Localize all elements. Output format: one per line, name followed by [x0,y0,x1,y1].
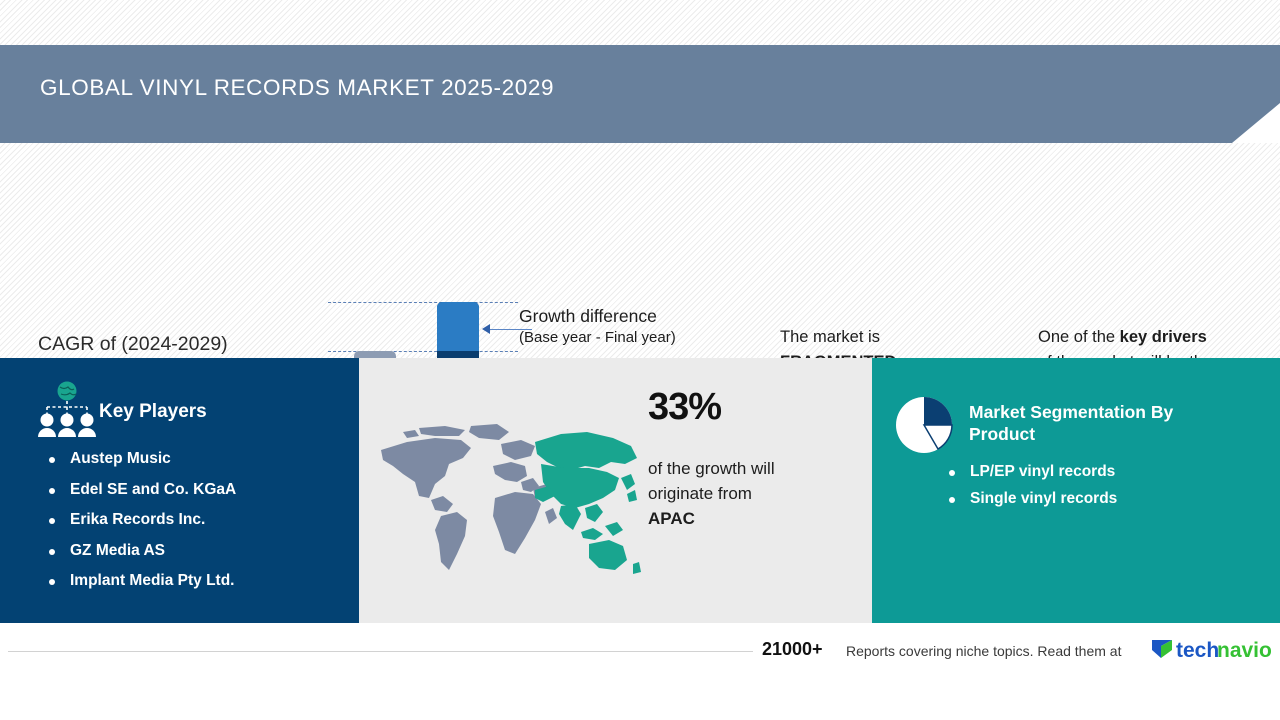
logo-text-navio: navio [1217,639,1272,662]
region-description: of the growth will originate from APAC [648,456,848,531]
list-item: Single vinyl records [948,490,1248,508]
globe-people-network-icon [34,381,100,437]
list-item: Austep Music [48,450,348,468]
driver-line1-prefix: One of the [1038,328,1120,346]
pie-chart-icon [895,396,953,454]
list-item: Edel SE and Co. KGaA [48,481,348,499]
stats-band: CAGR of (2024-2029) 9.3% 2024 Base Year [0,143,1280,358]
segmentation-list: LP/EP vinyl records Single vinyl records [948,463,1248,517]
map-base-regions [381,424,557,570]
driver-line1-bold: key drivers [1120,328,1207,346]
list-item: Erika Records Inc. [48,511,348,529]
logo-text-tech: tech [1176,639,1219,662]
footer-report-count: 21000+ [762,639,823,660]
region-name: APAC [648,509,695,528]
footer-divider [8,651,753,652]
growth-difference-title: Growth difference [519,306,657,327]
fragmentation-line1: The market is [780,328,880,346]
world-map [375,420,643,580]
key-players-list: Austep Music Edel SE and Co. KGaA Erika … [48,450,348,603]
gridline-final [328,302,518,303]
list-item: GZ Media AS [48,542,348,560]
callout-arrow-icon [482,324,490,334]
footer-text: Reports covering niche topics. Read them… [846,643,1121,659]
growth-difference-subtitle: (Base year - Final year) [519,329,676,346]
technavio-logo[interactable]: tech navio [1150,636,1274,662]
segmentation-title: Market Segmentation By Product [969,401,1229,445]
map-highlight-apac [535,432,641,574]
infographic-page: GLOBAL VINYL RECORDS MARKET 2025-2029 CA… [0,0,1280,720]
region-line2: originate from [648,484,752,503]
page-title: GLOBAL VINYL RECORDS MARKET 2025-2029 [40,75,554,101]
region-percent: 33% [648,386,721,429]
key-players-title: Key Players [99,401,207,423]
bar-growth-difference-segment [437,302,479,351]
region-line1: of the growth will [648,459,775,478]
list-item: LP/EP vinyl records [948,463,1248,481]
cagr-label: CAGR of (2024-2029) [38,333,228,356]
header-band: GLOBAL VINYL RECORDS MARKET 2025-2029 [0,45,1280,143]
list-item: Implant Media Pty Ltd. [48,572,348,590]
top-margin [0,0,1280,45]
